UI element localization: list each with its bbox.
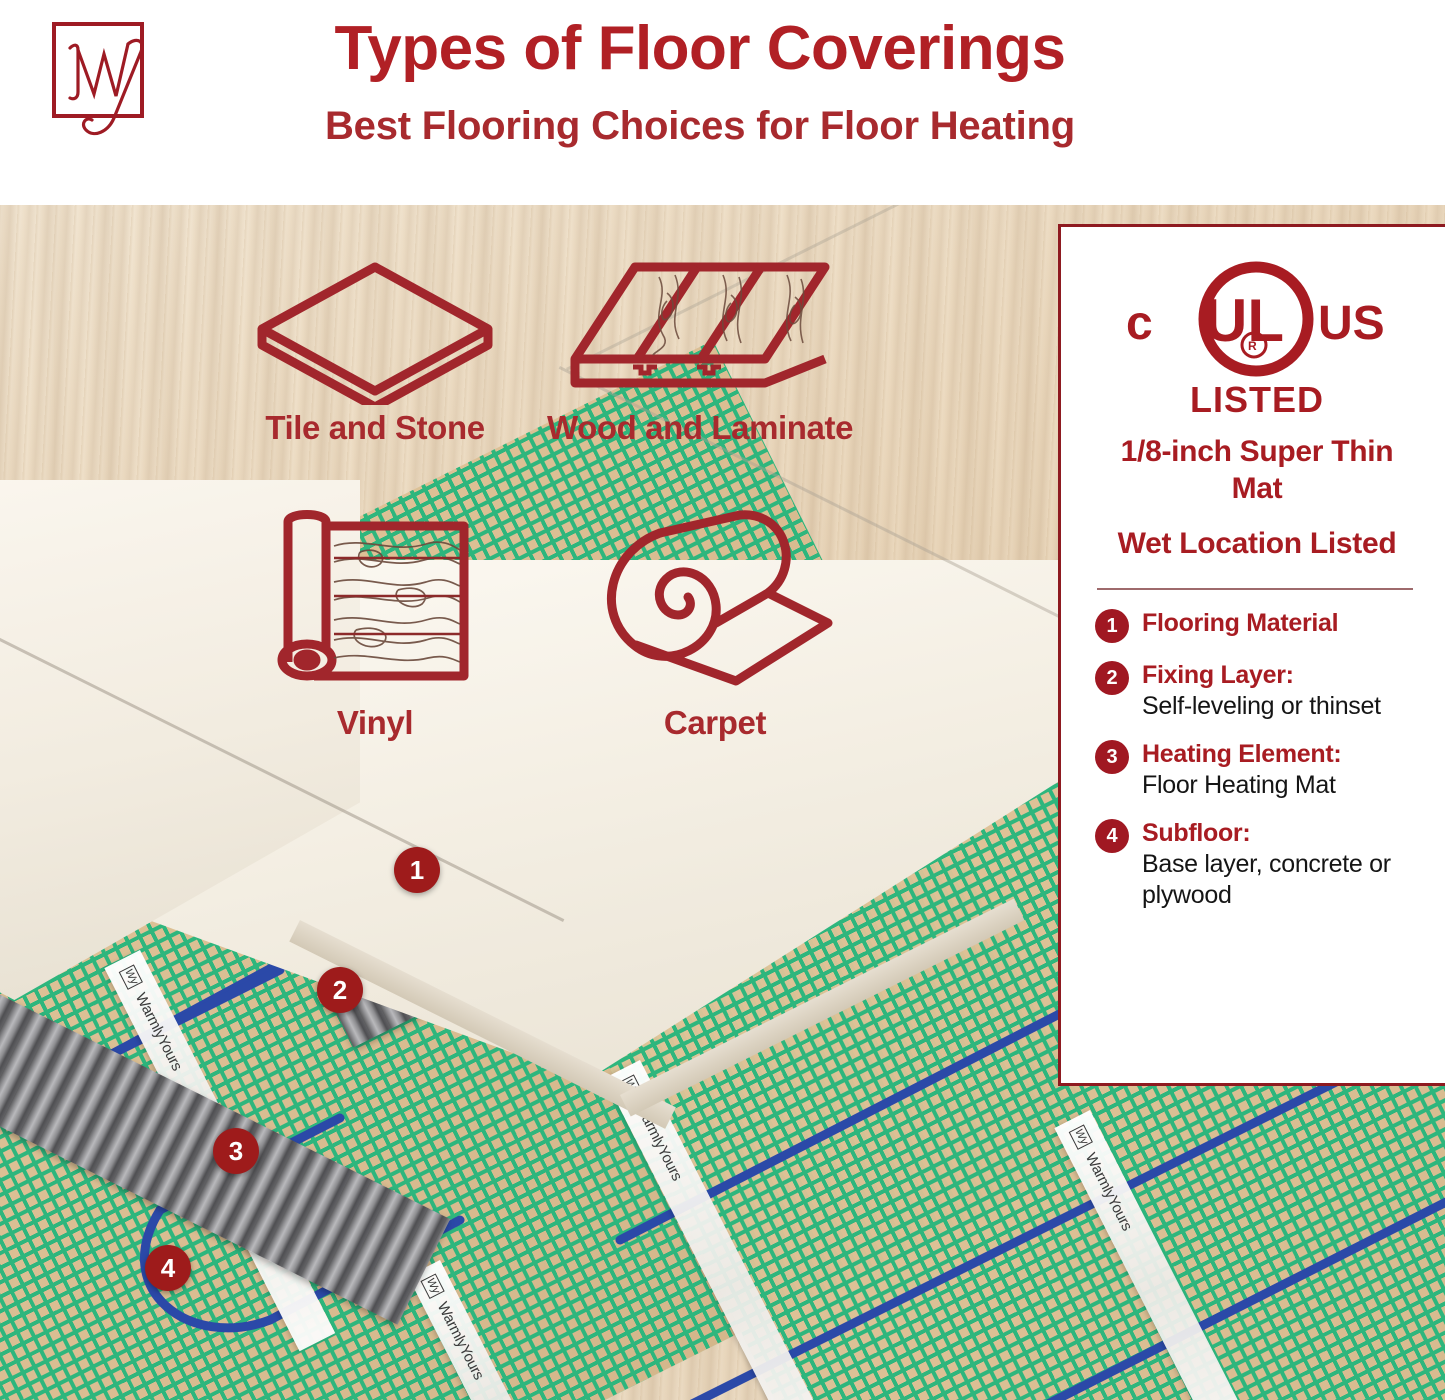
svg-text:US: US — [1318, 297, 1385, 350]
callout-badge-1: 1 — [394, 847, 440, 893]
legend-item-1: 1 Flooring Material — [1095, 608, 1419, 643]
tile-slab-icon — [250, 255, 500, 405]
svg-text:R: R — [1248, 339, 1257, 353]
flooring-type-carpet: Carpet — [565, 505, 865, 742]
carpet-roll-icon — [590, 505, 840, 700]
legend-item-4: 4 Subfloor: Base layer, concrete or plyw… — [1095, 818, 1419, 911]
flooring-type-label: Carpet — [565, 704, 865, 742]
legend-subtitle: Self-leveling or thinset — [1142, 691, 1419, 722]
flooring-types-group: Tile and Stone — [190, 255, 950, 725]
legend-subtitle: Base layer, concrete or plywood — [1142, 849, 1419, 911]
page-subtitle: Best Flooring Choices for Floor Heating — [160, 100, 1240, 152]
callout-badge-3: 3 — [213, 1128, 259, 1174]
wood-plank-icon — [563, 255, 838, 405]
svg-text:UL: UL — [1204, 287, 1284, 354]
legend-subtitle: Floor Heating Mat — [1142, 770, 1419, 801]
legend-item-3: 3 Heating Element: Floor Heating Mat — [1095, 739, 1419, 801]
warmlyyours-logo — [42, 14, 164, 146]
legend-title: Fixing Layer: — [1142, 660, 1419, 691]
callout-badge-2: 2 — [317, 967, 363, 1013]
page-title: Types of Floor Coverings — [160, 10, 1240, 88]
legend-title: Subfloor: — [1142, 818, 1419, 849]
ul-listed-mark: c UL R US LISTED — [1095, 255, 1419, 427]
tape-logo-icon: Wy — [421, 1273, 445, 1299]
panel-heading-thin-mat: 1/8-inch Super Thin Mat — [1095, 433, 1419, 507]
header: Types of Floor Coverings Best Flooring C… — [0, 0, 1445, 205]
legend-title: Flooring Material — [1142, 608, 1419, 639]
infographic-root: Wy WarmlyYours Wy WarmlyYours Wy WarmlyY… — [0, 0, 1445, 1400]
flooring-type-wood-and-laminate: Wood and Laminate — [520, 255, 880, 447]
ul-listed-text: LISTED — [1190, 379, 1324, 421]
info-panel: c UL R US LISTED 1/8-inch Super Thin Mat… — [1058, 224, 1445, 1086]
legend-number-badge: 4 — [1095, 819, 1129, 853]
tape-logo-icon: Wy — [119, 964, 143, 990]
wy-monogram-icon — [42, 14, 164, 146]
panel-heading-wet-location: Wet Location Listed — [1095, 525, 1419, 562]
flooring-type-tile-and-stone: Tile and Stone — [230, 255, 520, 447]
panel-divider — [1097, 588, 1413, 590]
callout-badge-4: 4 — [145, 1245, 191, 1291]
ul-badge-icon: c UL R US — [1112, 261, 1402, 381]
legend-number-badge: 3 — [1095, 740, 1129, 774]
legend-title: Heating Element: — [1142, 739, 1419, 770]
flooring-type-label: Tile and Stone — [230, 409, 520, 447]
flooring-type-label: Vinyl — [245, 704, 505, 742]
legend-number-badge: 1 — [1095, 609, 1129, 643]
tape-logo-icon: Wy — [1069, 1124, 1093, 1150]
legend-item-2: 2 Fixing Layer: Self-leveling or thinset — [1095, 660, 1419, 722]
flooring-type-label: Wood and Laminate — [520, 409, 880, 447]
svg-text:c: c — [1126, 297, 1153, 350]
flooring-type-vinyl: Vinyl — [245, 500, 505, 742]
legend-number-badge: 2 — [1095, 661, 1129, 695]
vinyl-roll-icon — [268, 500, 483, 700]
